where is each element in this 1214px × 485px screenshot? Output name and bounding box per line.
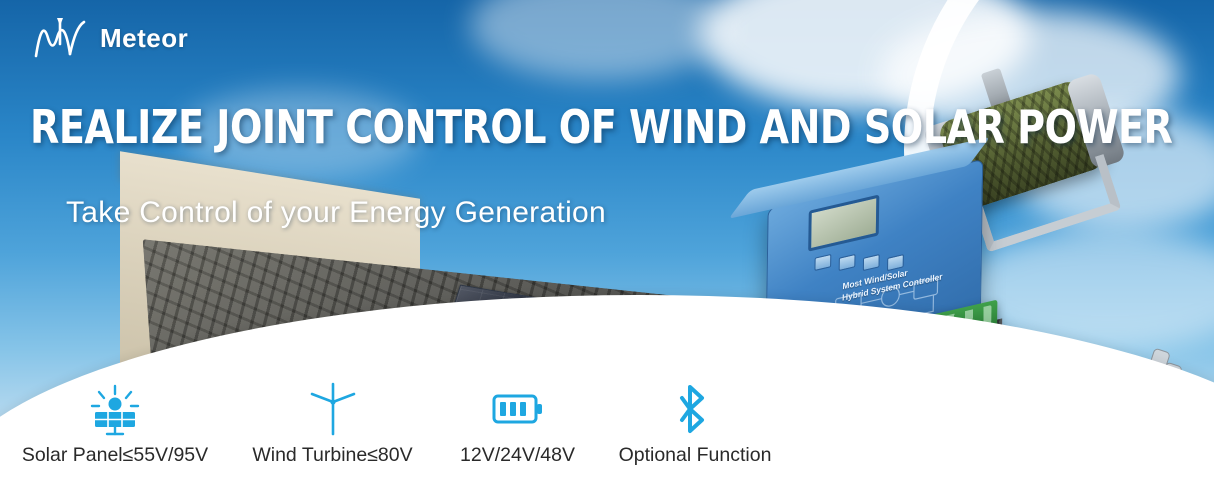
feature-bluetooth: Optional Function	[600, 380, 790, 467]
hero-banner: Most Wind/Solar Hybrid System Controller	[0, 0, 1214, 485]
feature-solar-panel: Solar Panel≤55V/95V	[0, 380, 230, 467]
feature-label: Solar Panel≤55V/95V	[22, 444, 208, 467]
meteor-m-logo-icon	[30, 14, 90, 62]
feature-label: Optional Function	[619, 444, 772, 467]
feature-wind-turbine: Wind Turbine≤80V	[230, 380, 435, 467]
page-title: REALIZE JOINT CONTROL OF WIND AND SOLAR …	[30, 102, 1172, 154]
solar-panel-icon	[86, 380, 144, 438]
battery-icon	[492, 380, 544, 438]
cloud	[470, 0, 730, 80]
bluetooth-icon	[678, 380, 712, 438]
feature-label: Wind Turbine≤80V	[252, 444, 412, 467]
feature-label: 12V/24V/48V	[460, 444, 575, 467]
brand-name: Meteor	[100, 23, 188, 54]
page-subtitle: Take Control of your Energy Generation	[66, 196, 606, 230]
brand-logo[interactable]: Meteor	[30, 14, 188, 62]
feature-voltage: 12V/24V/48V	[435, 380, 600, 467]
wind-turbine-icon	[306, 380, 360, 438]
feature-row: Solar Panel≤55V/95V Wind Turbine≤80V	[0, 380, 790, 467]
